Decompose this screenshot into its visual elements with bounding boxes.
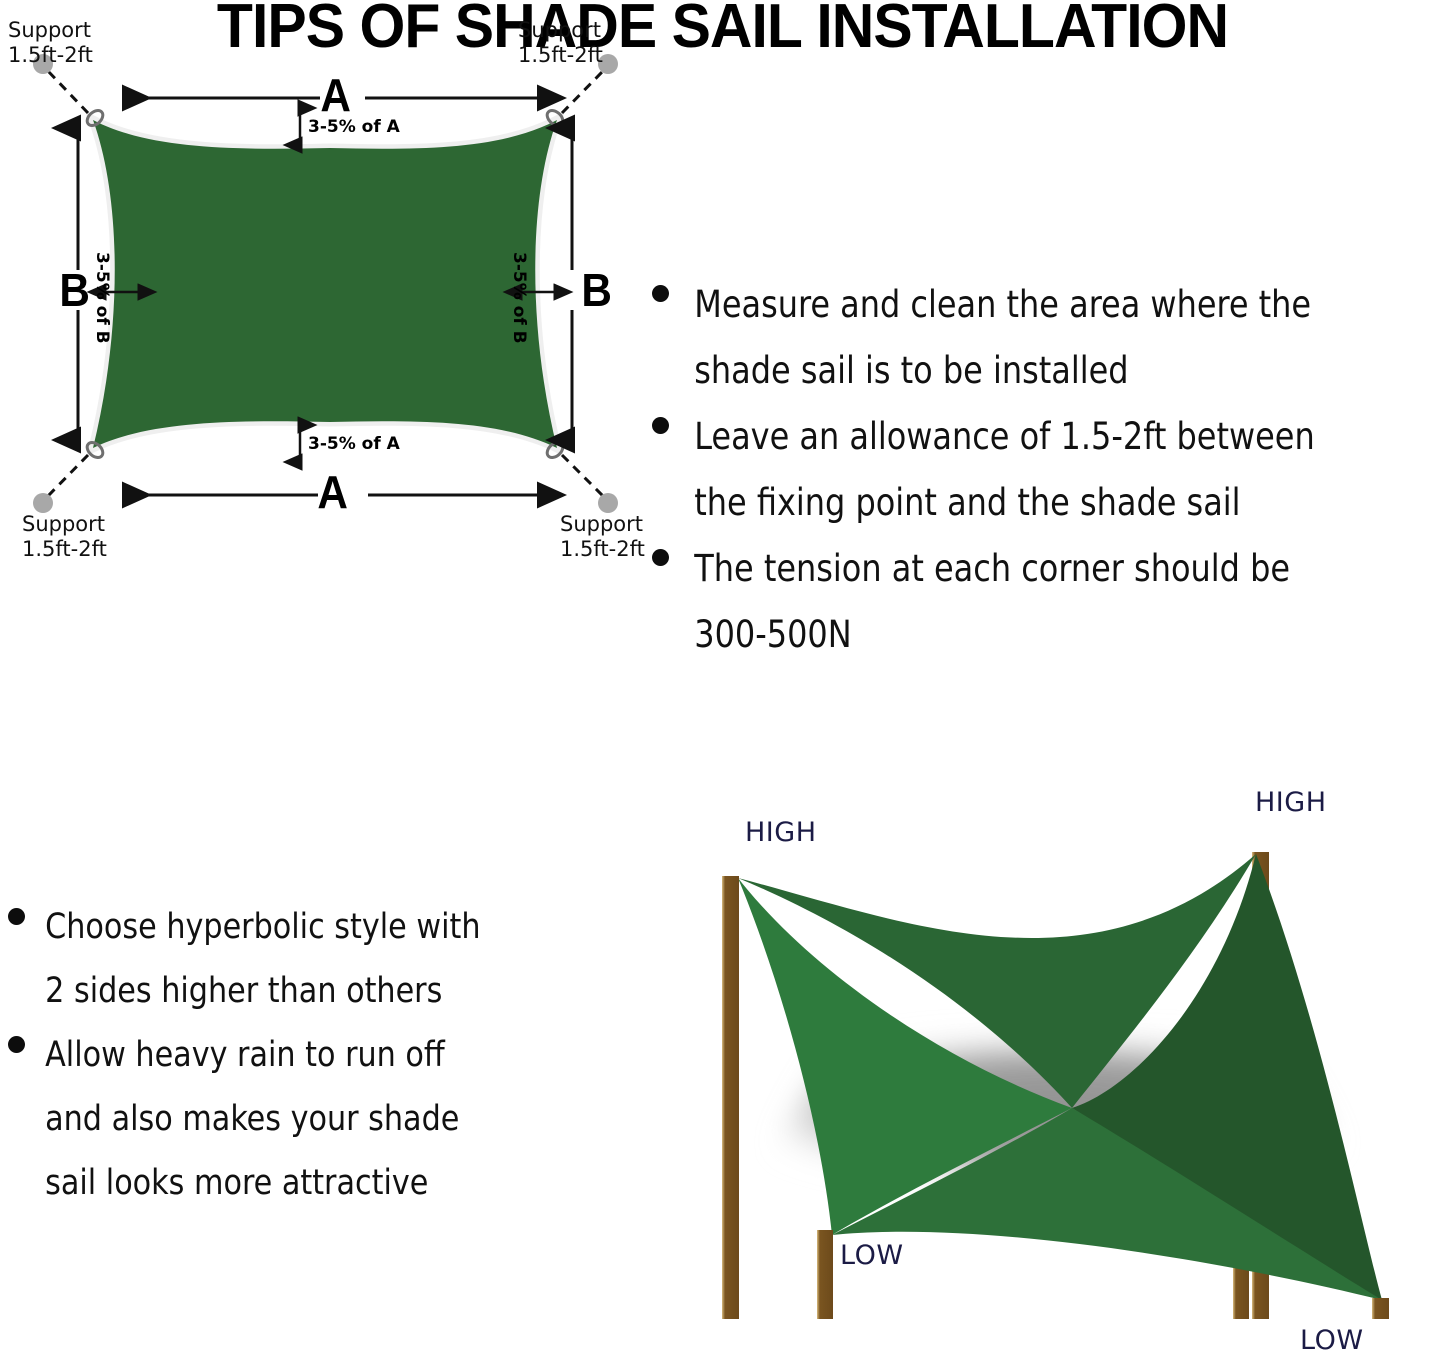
support-label-line1: Support bbox=[8, 18, 91, 42]
hyperbolic-tips-list: Choose hyperbolic style with 2 sides hig… bbox=[0, 895, 640, 1215]
support-dot-bottom-left bbox=[33, 493, 53, 513]
dash-top-left bbox=[47, 70, 88, 113]
list-item-line: and also makes your shade bbox=[0, 1087, 614, 1151]
support-dot-bottom-right bbox=[598, 493, 618, 513]
list-item-line: Allow heavy rain to run off bbox=[0, 1023, 614, 1087]
list-item-line: Measure and clean the area where the bbox=[652, 272, 1420, 338]
curve-label-bottom: 3-5% of A bbox=[308, 436, 400, 453]
curve-label-top: 3-5% of A bbox=[308, 119, 400, 136]
list-item-line: Leave an allowance of 1.5-2ft between bbox=[652, 404, 1420, 470]
post-low-left bbox=[817, 1230, 833, 1319]
dash-top-right bbox=[562, 70, 604, 113]
curve-label-right: 3-5% of B bbox=[510, 252, 527, 344]
list-item-line: 2 sides higher than others bbox=[0, 959, 614, 1023]
support-label-line1: Support bbox=[518, 18, 601, 42]
support-label-bottom-left: Support 1.5ft-2ft bbox=[22, 512, 107, 562]
installation-tips-list: Measure and clean the area where the sha… bbox=[652, 272, 1445, 668]
hyperbolic-sail-graphic bbox=[660, 790, 1445, 1319]
dimension-label-a-bottom: A bbox=[317, 469, 348, 515]
hyperbolic-sail-scene: HIGH HIGH LOW LOW bbox=[660, 790, 1445, 1319]
label-low-left: LOW bbox=[840, 1240, 904, 1271]
support-label-bottom-right: Support 1.5ft-2ft bbox=[560, 512, 645, 562]
support-label-line2: 1.5ft-2ft bbox=[518, 43, 603, 67]
dimension-label-b-right: B bbox=[581, 267, 612, 313]
list-item: Leave an allowance of 1.5-2ft between th… bbox=[652, 404, 1445, 536]
support-label-line1: Support bbox=[560, 512, 643, 536]
rect-sail-diagram: Support 1.5ft-2ft Support 1.5ft-2ft Supp… bbox=[0, 0, 660, 580]
list-item-line: 300-500N bbox=[652, 602, 1420, 668]
label-high-right: HIGH bbox=[1255, 787, 1327, 818]
list-item-line: The tension at each corner should be bbox=[652, 536, 1420, 602]
list-item: Choose hyperbolic style with 2 sides hig… bbox=[0, 895, 640, 1023]
sail-body bbox=[93, 120, 557, 448]
support-label-line2: 1.5ft-2ft bbox=[22, 537, 107, 561]
list-item: Allow heavy rain to run off and also mak… bbox=[0, 1023, 640, 1215]
support-label-line2: 1.5ft-2ft bbox=[560, 537, 645, 561]
post-low-right bbox=[1372, 1298, 1389, 1319]
dimension-label-a-top: A bbox=[320, 72, 351, 118]
list-item-line: sail looks more attractive bbox=[0, 1151, 614, 1215]
post-high-left bbox=[722, 876, 739, 1319]
support-label-line2: 1.5ft-2ft bbox=[8, 43, 93, 67]
dimension-label-b-left: B bbox=[59, 267, 90, 313]
label-low-right: LOW bbox=[1300, 1325, 1364, 1356]
support-label-top-right: Support 1.5ft-2ft bbox=[518, 18, 603, 68]
support-label-line1: Support bbox=[22, 512, 105, 536]
list-item-line: the fixing point and the shade sail bbox=[652, 470, 1420, 536]
list-item: Measure and clean the area where the sha… bbox=[652, 272, 1445, 404]
list-item: The tension at each corner should be 300… bbox=[652, 536, 1445, 668]
dash-bottom-left bbox=[47, 455, 88, 497]
label-high-left: HIGH bbox=[745, 817, 817, 848]
list-item-line: Choose hyperbolic style with bbox=[0, 895, 614, 959]
support-label-top-left: Support 1.5ft-2ft bbox=[8, 18, 93, 68]
curve-label-left: 3-5% of B bbox=[93, 252, 110, 344]
dash-bottom-right bbox=[562, 455, 604, 497]
list-item-line: shade sail is to be installed bbox=[652, 338, 1420, 404]
